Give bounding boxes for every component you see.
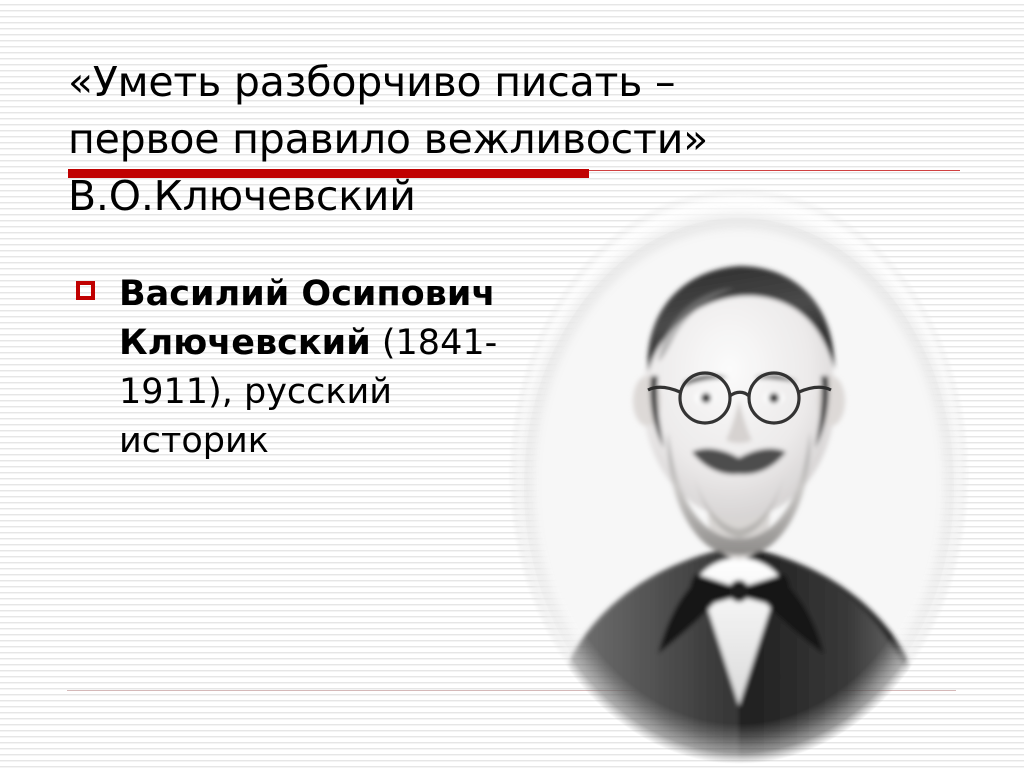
portrait-oval-content bbox=[508, 186, 970, 764]
square-bullet-icon bbox=[76, 281, 95, 300]
portrait-photo bbox=[508, 186, 970, 764]
title-line-2: первое правило вежливости» bbox=[68, 111, 968, 168]
title-line-1: «Уметь разборчиво писать – bbox=[68, 54, 968, 111]
list-item-text: Василий Осипович Ключевский (1841-1911),… bbox=[119, 270, 516, 466]
title-underline-thick bbox=[68, 169, 589, 178]
slide-canvas: «Уметь разборчиво писать – первое правил… bbox=[0, 0, 1024, 768]
slide-title: «Уметь разборчиво писать – первое правил… bbox=[68, 54, 968, 225]
list-item: Василий Осипович Ключевский (1841-1911),… bbox=[76, 270, 516, 466]
